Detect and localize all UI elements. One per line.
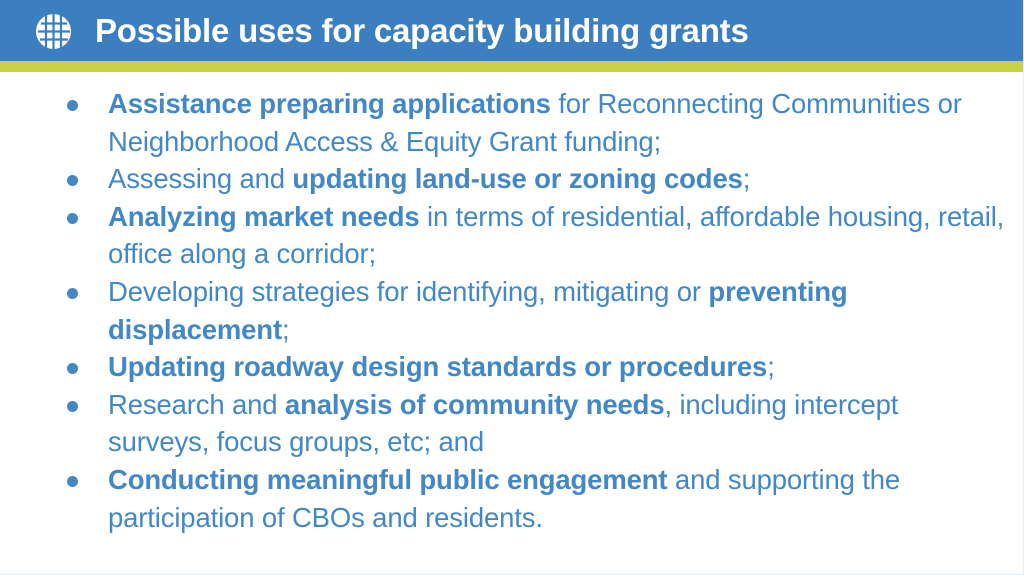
bullet-5-run-0: Updating roadway design standards or pro…	[108, 351, 767, 382]
list-item: Assessing and updating land-use or zonin…	[50, 160, 1005, 198]
bullet-dot-icon	[67, 175, 78, 186]
list-item: Analyzing market needs in terms of resid…	[50, 198, 1005, 273]
bullet-2-run-0: Assessing and	[108, 163, 292, 194]
accent-divider-bar	[0, 61, 1023, 72]
slide-body: Assistance preparing applications for Re…	[0, 72, 1023, 536]
slide-header: Possible uses for capacity building gran…	[0, 0, 1023, 61]
bullet-2-run-1: updating land-use or zoning codes	[292, 163, 742, 194]
bullet-5-run-1: ;	[767, 351, 775, 382]
globe-grid-logo-icon	[34, 12, 73, 51]
list-item: Updating roadway design standards or pro…	[50, 348, 1005, 386]
bullet-4-run-0: Developing strategies for identifying, m…	[108, 276, 708, 307]
bullet-4-run-2: ;	[282, 314, 290, 345]
bullet-dot-icon	[67, 476, 78, 487]
bullet-dot-icon	[67, 213, 78, 224]
bullet-dot-icon	[67, 363, 78, 374]
bullet-list: Assistance preparing applications for Re…	[50, 85, 1005, 536]
list-item: Developing strategies for identifying, m…	[50, 273, 1005, 348]
page-title: Possible uses for capacity building gran…	[95, 14, 749, 47]
slide: Possible uses for capacity building gran…	[0, 0, 1024, 575]
bullet-dot-icon	[67, 288, 78, 299]
list-item: Research and analysis of community needs…	[50, 386, 1005, 461]
list-item: Conducting meaningful public engagement …	[50, 461, 1005, 536]
bullet-1-run-0: Assistance preparing applications	[108, 88, 551, 119]
bullet-dot-icon	[67, 100, 78, 111]
bullet-6-run-0: Research and	[108, 389, 285, 420]
bullet-dot-icon	[67, 401, 78, 412]
bullet-3-run-0: Analyzing market needs	[108, 201, 420, 232]
list-item: Assistance preparing applications for Re…	[50, 85, 1005, 160]
bullet-7-run-0: Conducting meaningful public engagement	[108, 464, 667, 495]
bullet-2-run-2: ;	[743, 163, 751, 194]
bullet-6-run-1: analysis of community needs	[285, 389, 665, 420]
